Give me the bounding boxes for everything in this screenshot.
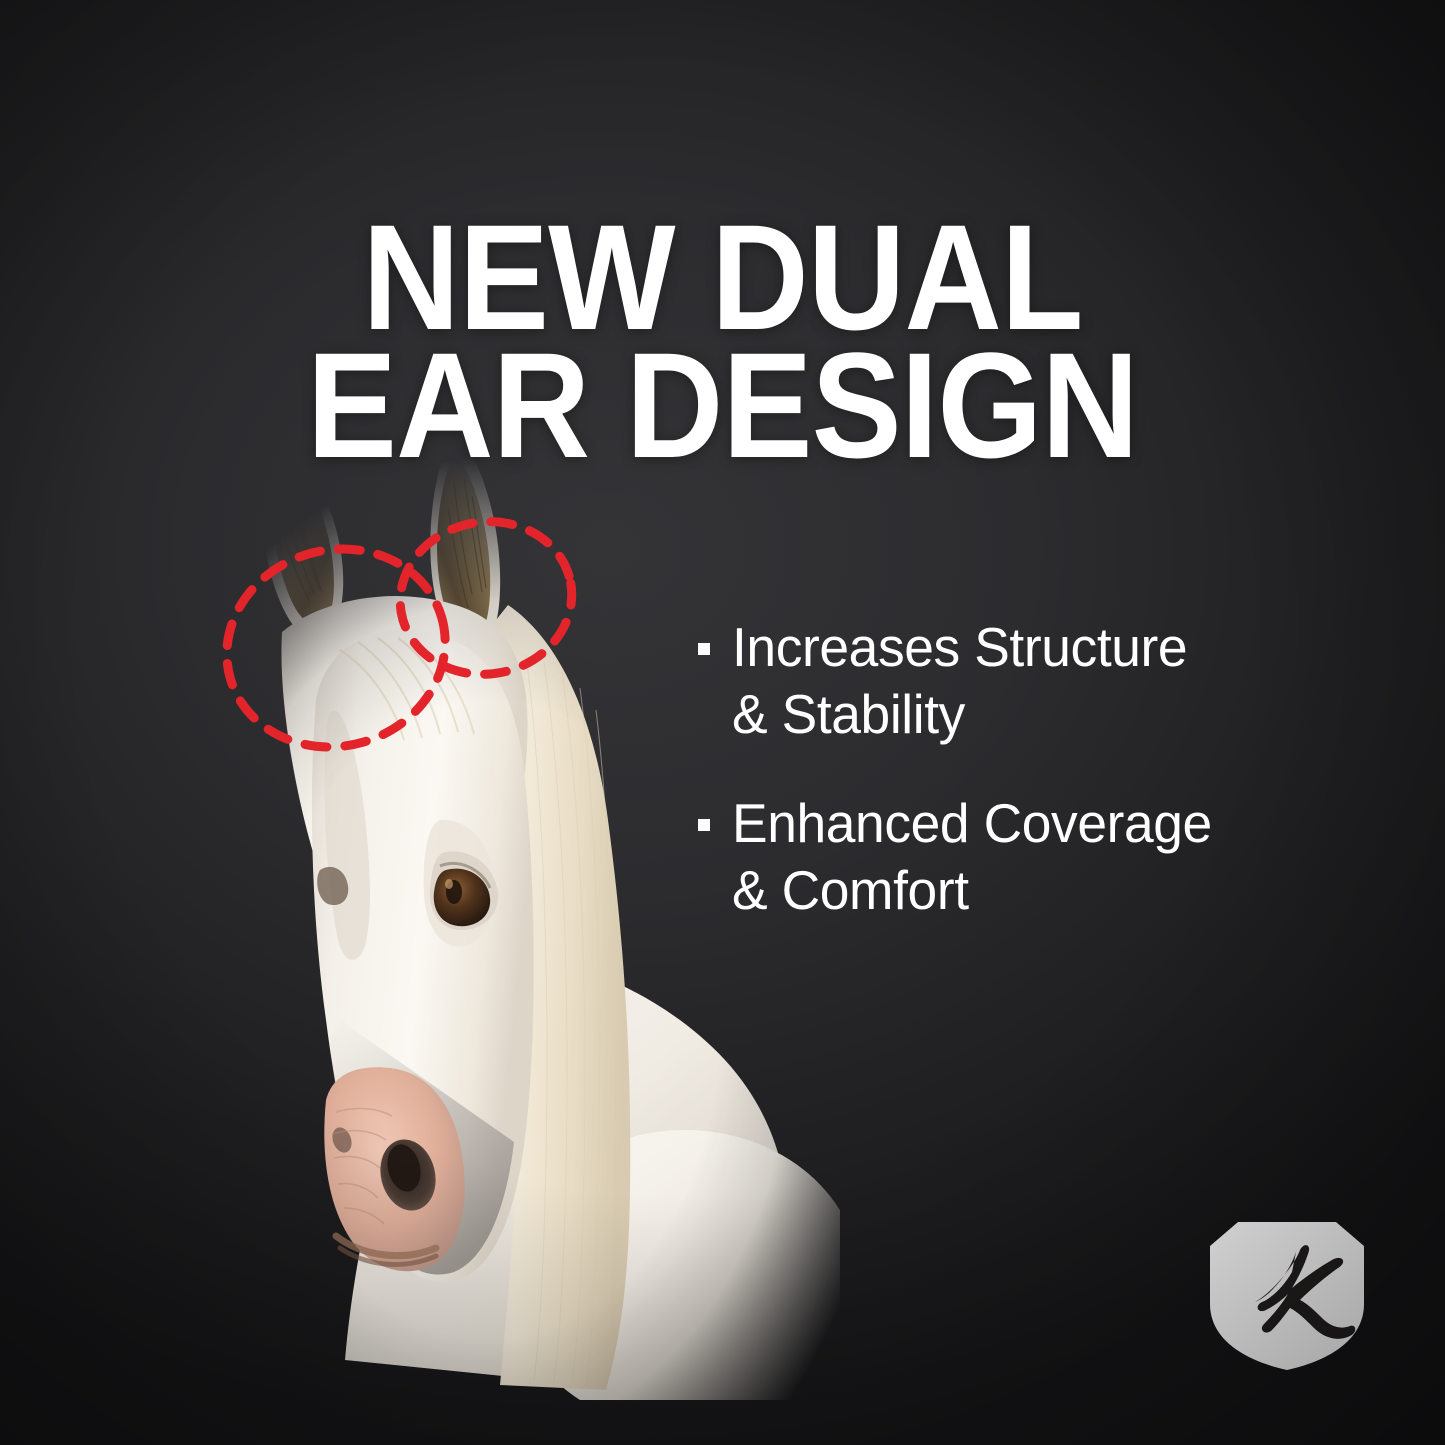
list-item: Enhanced Coverage & Comfort [698,790,1358,924]
feature-text-2: Enhanced Coverage & Comfort [732,790,1212,924]
square-bullet-icon [698,643,710,655]
square-bullet-icon [698,819,710,831]
headline-line-2: EAR DESIGN [72,341,1373,469]
marketing-banner: NEW DUAL EAR DESIGN Increases Structure … [0,0,1445,1445]
brand-logo [1208,1220,1366,1372]
list-item: Increases Structure & Stability [698,614,1358,748]
feature-list: Increases Structure & Stability Enhanced… [698,614,1358,966]
page-title: NEW DUAL EAR DESIGN [72,213,1373,470]
feature-text-1: Increases Structure & Stability [732,614,1187,748]
